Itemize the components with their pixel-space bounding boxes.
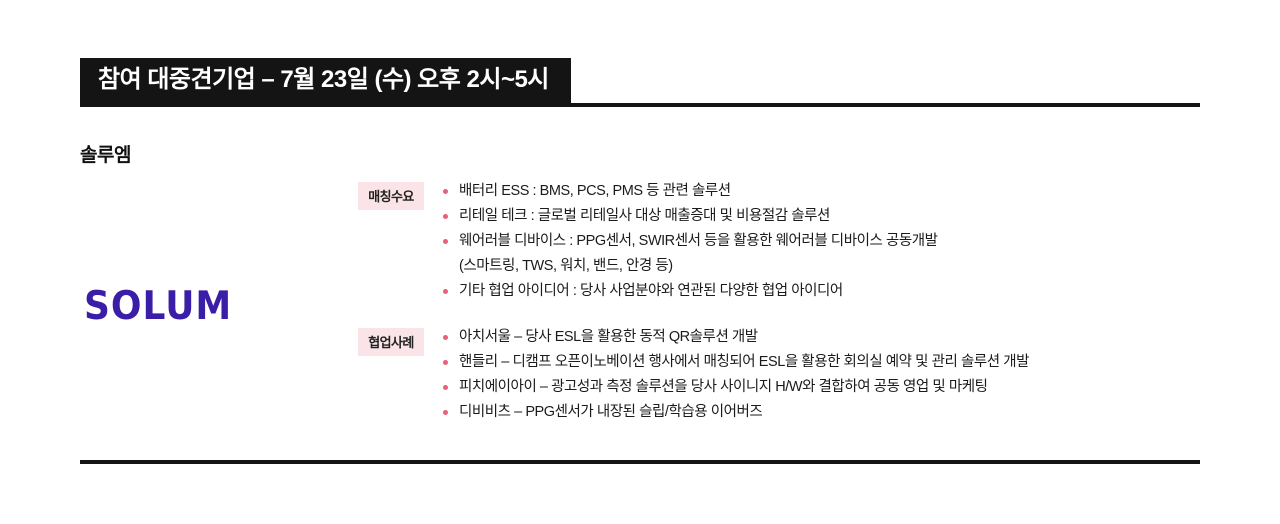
divider-bottom [80,460,1200,464]
section-tag-collaboration-cases: 협업사례 [358,328,424,356]
bullet-dot-icon [443,189,448,194]
list-item: 배터리 ESS : BMS, PCS, PMS 등 관련 솔루션 [443,179,1188,204]
document-page: 참여 대중견기업 – 7월 23일 (수) 오후 2시~5시 솔루엠 SOLUM… [0,0,1280,524]
list-item-label: 배터리 ESS : BMS, PCS, PMS 등 관련 솔루션 [459,183,731,199]
matching-demand-list: 배터리 ESS : BMS, PCS, PMS 등 관련 솔루션 리테일 테크 … [443,179,1188,304]
company-logo: SOLUM [84,285,264,329]
list-item-label: 아치서울 – 당사 ESL을 활용한 동적 QR솔루션 개발 [459,329,758,345]
list-item: 웨어러블 디바이스 : PPG센서, SWIR센서 등을 활용한 웨어러블 디바… [443,229,1188,254]
bullet-dot-icon [443,289,448,294]
section-title-wrapper: 참여 대중견기업 – 7월 23일 (수) 오후 2시~5시 [80,58,571,103]
list-item: 기타 협업 아이디어 : 당사 사업분야와 연관된 다양한 협업 아이디어 [443,279,1188,304]
divider-top [80,103,1200,107]
bullet-dot-icon [443,239,448,244]
list-item-label: 핸들리 – 디캠프 오픈이노베이션 행사에서 매칭되어 ESL을 활용한 회의실… [459,354,1029,370]
list-item-label: 디비비츠 – PPG센서가 내장된 슬립/학습용 이어버즈 [459,404,762,420]
list-item: 아치서울 – 당사 ESL을 활용한 동적 QR솔루션 개발 [443,325,1188,350]
list-item-label: 기타 협업 아이디어 : 당사 사업분야와 연관된 다양한 협업 아이디어 [459,283,843,299]
page-title: 참여 대중견기업 – 7월 23일 (수) 오후 2시~5시 [80,58,571,103]
list-item-label: (스마트링, TWS, 워치, 밴드, 안경 등) [459,258,673,274]
section-tag-matching-demand: 매칭수요 [358,182,424,210]
bullet-dot-icon [443,214,448,219]
bullet-dot-icon [443,360,448,365]
list-item-label: 웨어러블 디바이스 : PPG센서, SWIR센서 등을 활용한 웨어러블 디바… [459,233,938,249]
list-item-continuation: (스마트링, TWS, 워치, 밴드, 안경 등) [443,254,1188,279]
list-item: 핸들리 – 디캠프 오픈이노베이션 행사에서 매칭되어 ESL을 활용한 회의실… [443,350,1188,375]
company-name: 솔루엠 [80,140,131,167]
list-item-label: 피치에이아이 – 광고성과 측정 솔루션을 당사 사이니지 H/W와 결합하여 … [459,379,988,395]
list-item: 디비비츠 – PPG센서가 내장된 슬립/학습용 이어버즈 [443,400,1188,425]
bullet-dot-icon [443,410,448,415]
logo-wordmark: SOLUM [84,288,232,327]
bullet-dot-icon [443,385,448,390]
list-item: 피치에이아이 – 광고성과 측정 솔루션을 당사 사이니지 H/W와 결합하여 … [443,375,1188,400]
list-item: 리테일 테크 : 글로벌 리테일사 대상 매출증대 및 비용절감 솔루션 [443,204,1188,229]
bullet-dot-icon [443,335,448,340]
list-item-label: 리테일 테크 : 글로벌 리테일사 대상 매출증대 및 비용절감 솔루션 [459,208,830,224]
collaboration-cases-list: 아치서울 – 당사 ESL을 활용한 동적 QR솔루션 개발 핸들리 – 디캠프… [443,325,1188,425]
